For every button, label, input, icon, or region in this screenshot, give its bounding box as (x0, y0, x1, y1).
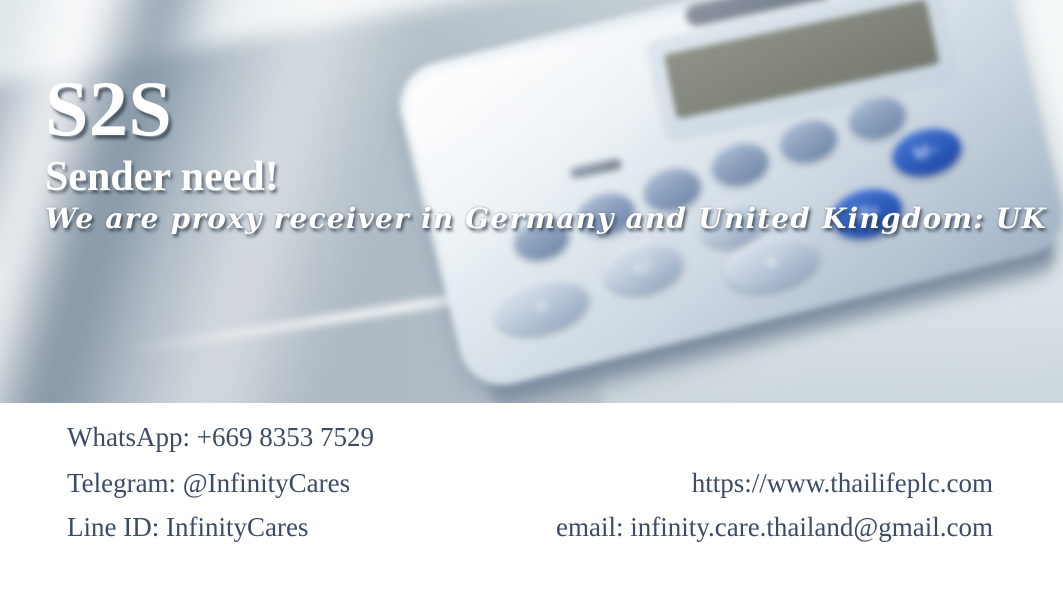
contact-line-id[interactable]: Line ID: InfinityCares (67, 514, 308, 541)
hero-text-block: S2S Sender need! We are proxy receiver i… (0, 0, 1063, 403)
contact-email[interactable]: email: infinity.care.thailand@gmail.com (556, 514, 993, 541)
tagline: We are proxy receiver in Germany and Uni… (45, 205, 1047, 233)
contact-whatsapp[interactable]: WhatsApp: +669 8353 7529 (67, 424, 374, 451)
promo-banner: = +/- − + M+ M− S2S Sender need! We are … (0, 0, 1063, 600)
contact-website-link[interactable]: https://www.thailifeplc.com (692, 470, 993, 497)
hero-photo: = +/- − + M+ M− S2S Sender need! We are … (0, 0, 1063, 403)
brand-title: S2S (45, 70, 172, 148)
contact-telegram[interactable]: Telegram: @InfinityCares (67, 470, 350, 497)
headline: Sender need! (45, 156, 279, 198)
